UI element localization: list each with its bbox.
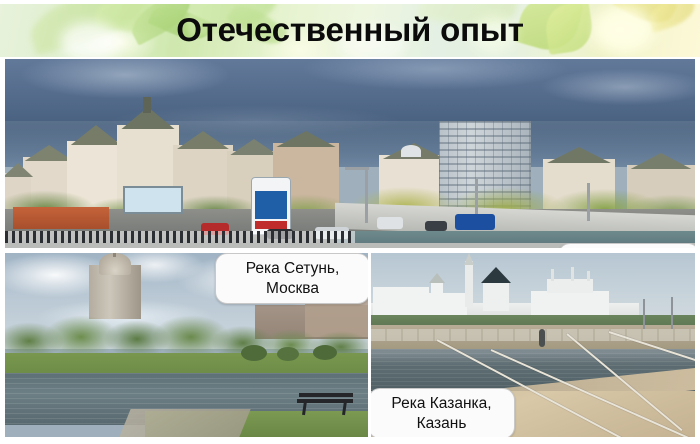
frame-middle-divider [0, 248, 700, 253]
car [425, 221, 447, 231]
blue-van [455, 214, 495, 230]
bench-leg [342, 401, 347, 415]
street-lamp [365, 167, 368, 223]
photo-kazanka: Река Казанка, Казань [371, 253, 695, 437]
sign-price-panel [255, 191, 287, 219]
street-lamp [587, 183, 590, 221]
mosque-minaret [571, 267, 574, 281]
caption-setun: Река Сетунь, Москва [215, 253, 368, 304]
park-bench [297, 393, 353, 415]
presentation-slide: Отечественный опыт [0, 0, 700, 444]
mosque-minaret [587, 271, 590, 281]
fuel-price-sign [251, 177, 291, 235]
mosque-minaret [551, 269, 554, 281]
bench-backrest [299, 393, 353, 397]
angler-silhouette [539, 329, 545, 347]
kremlin-tower [431, 281, 443, 297]
bench-leg [302, 401, 307, 415]
caption-line-2: Казань [417, 414, 467, 434]
frame-vertical-divider [368, 253, 371, 437]
small-dome [401, 145, 421, 157]
photo-yauza: Река Яуза, Москва [5, 59, 695, 248]
shrub [241, 345, 267, 361]
shrub [277, 347, 299, 361]
soyembika-tower [465, 261, 473, 307]
utility-pole [643, 299, 645, 329]
street-lamp-arm [345, 167, 369, 170]
caption-line-1: Река Казанка, [391, 394, 491, 414]
concrete-slope [371, 329, 695, 341]
construction-fence [13, 207, 109, 229]
frame-bottom-border [0, 437, 700, 444]
header-top-border [0, 0, 700, 4]
kremlin-building [373, 287, 429, 315]
kul-sharif-mosque [547, 279, 593, 293]
utility-pole [671, 297, 673, 329]
photo-setun: Река Сетунь, Москва [5, 253, 368, 437]
caption-line-1: Река Сетунь, [246, 259, 340, 279]
walking-path [119, 409, 250, 437]
page-title: Отечественный опыт [0, 5, 700, 55]
white-tower [483, 281, 509, 311]
car [377, 217, 403, 229]
sign-red-strip [255, 221, 287, 229]
dome-spire [113, 253, 116, 257]
governors-palace [531, 291, 609, 317]
shrub [313, 345, 337, 360]
caption-kazanka: Река Казанка, Казань [371, 388, 515, 437]
caption-line-2: Москва [266, 279, 319, 299]
billboard [123, 186, 183, 214]
